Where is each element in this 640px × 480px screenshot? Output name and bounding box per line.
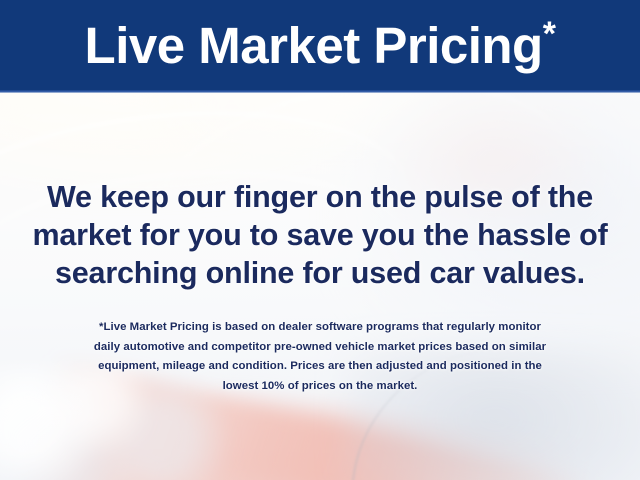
header-banner: Live Market Pricing* xyxy=(0,0,640,90)
disclaimer-line: lowest 10% of prices on the market. xyxy=(0,377,640,397)
page-title-text: Live Market Pricing xyxy=(85,17,543,74)
headline-line: searching online for used car values. xyxy=(0,254,640,292)
disclaimer-line: daily automotive and competitor pre-owne… xyxy=(0,338,640,358)
header-banner-underline xyxy=(0,90,640,93)
headline-line: market for you to save you the hassle of xyxy=(0,216,640,254)
disclaimer-line: equipment, mileage and condition. Prices… xyxy=(0,357,640,377)
live-market-pricing-promo-card: Live Market Pricing* We keep our finger … xyxy=(0,0,640,480)
disclaimer-line: *Live Market Pricing is based on dealer … xyxy=(0,318,640,338)
page-title-asterisk: * xyxy=(543,15,556,53)
disclaimer-text: *Live Market Pricing is based on dealer … xyxy=(0,318,640,396)
headline: We keep our finger on the pulse of the m… xyxy=(0,178,640,292)
headline-line: We keep our finger on the pulse of the xyxy=(0,178,640,216)
page-title: Live Market Pricing* xyxy=(85,17,556,71)
